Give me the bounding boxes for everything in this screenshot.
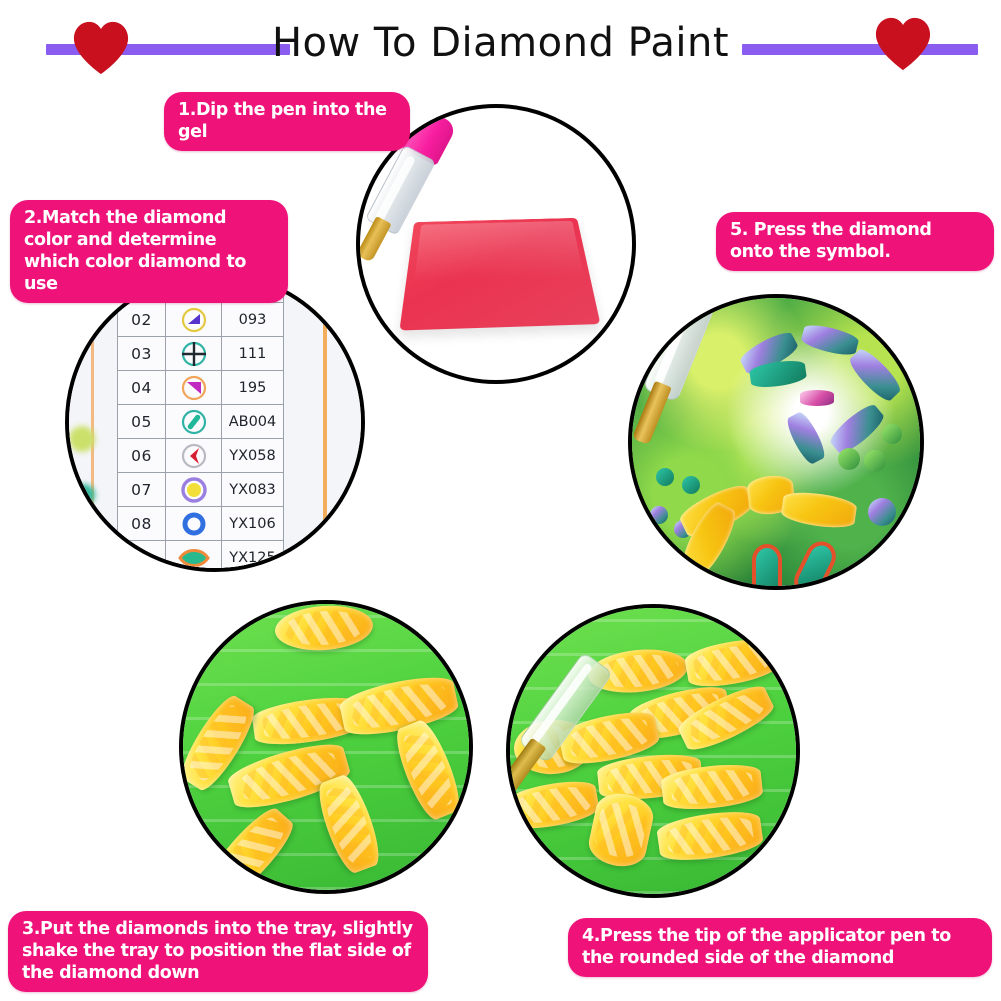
magenta-triangle-symbol-icon xyxy=(166,371,222,405)
canvas-gem xyxy=(650,506,668,524)
canvas-gem xyxy=(864,450,886,472)
row-number: 04 xyxy=(118,371,166,405)
page-title: How To Diamond Paint xyxy=(0,19,1001,67)
row-number: 08 xyxy=(118,507,166,541)
chart-blob xyxy=(65,520,83,540)
open-ring-symbol-icon xyxy=(166,507,222,541)
canvas-gem xyxy=(826,400,887,457)
table-row: 07 YX083 xyxy=(118,473,284,507)
table-row: 03 111 xyxy=(118,337,284,371)
plus-cross-symbol-icon xyxy=(166,337,222,371)
canvas-gem xyxy=(838,448,860,470)
row-code: YX125 xyxy=(222,541,284,573)
leaf-marquise-symbol-icon xyxy=(166,541,222,573)
row-number: 09 xyxy=(118,541,166,573)
color-code-table: 01 020 xyxy=(117,272,284,572)
diamond-tray xyxy=(183,604,469,890)
row-number: 05 xyxy=(118,405,166,439)
step-1-photo-inner xyxy=(360,108,632,380)
row-code: AB004 xyxy=(222,405,284,439)
canvas-gem xyxy=(682,476,700,494)
row-code: YX083 xyxy=(222,473,284,507)
canvas-gem xyxy=(783,409,829,466)
left-chevron-symbol-icon xyxy=(166,439,222,473)
canvas-gem-yellow xyxy=(780,489,858,531)
row-code: YX106 xyxy=(222,507,284,541)
mandala-canvas xyxy=(632,298,920,586)
filled-dot-symbol-icon xyxy=(166,473,222,507)
infographic-page: How To Diamond Paint 1.Dip the pen into … xyxy=(0,0,1001,1001)
canvas-gem xyxy=(882,424,902,444)
canvas-gem xyxy=(868,498,896,526)
tray-diamond xyxy=(683,635,779,692)
row-code: 111 xyxy=(222,337,284,371)
canvas-gem xyxy=(800,390,834,406)
step-3-photo xyxy=(179,600,473,894)
pen-tip xyxy=(356,216,392,263)
row-number: 02 xyxy=(118,303,166,337)
step-2-label: 2.Match the diamond color and determine … xyxy=(10,200,288,303)
row-code: 195 xyxy=(222,371,284,405)
row-number: 07 xyxy=(118,473,166,507)
canvas-gem xyxy=(800,322,860,359)
tray-diamond xyxy=(655,807,764,865)
canvas-gem xyxy=(846,345,905,405)
color-chart-sheet: 01 020 xyxy=(69,276,361,568)
tray-diamond xyxy=(312,771,386,876)
table-row: 06 YX058 xyxy=(118,439,284,473)
chart-blob xyxy=(69,426,95,452)
step-4-label: 4.Press the tip of the applicator pen to… xyxy=(568,918,992,977)
canvas-gem xyxy=(752,544,782,590)
step-2-photo: 01 020 xyxy=(65,272,365,572)
table-row: 05 AB004 xyxy=(118,405,284,439)
tray-diamond xyxy=(202,802,300,894)
canvas-gem xyxy=(789,536,841,590)
row-number: 03 xyxy=(118,337,166,371)
pink-gel-pad xyxy=(399,218,600,331)
step-5-label: 5. Press the diamond onto the symbol. xyxy=(716,212,994,271)
step-5-photo xyxy=(628,294,924,590)
row-code: 093 xyxy=(222,303,284,337)
applicator-pen xyxy=(628,294,724,459)
pen-tip xyxy=(632,381,672,445)
right-triangle-symbol-icon xyxy=(166,303,222,337)
step-3-label: 3.Put the diamonds into the tray, slight… xyxy=(8,911,428,992)
row-code: YX058 xyxy=(222,439,284,473)
tray-diamond xyxy=(274,603,375,654)
diagonal-bar-symbol-icon xyxy=(166,405,222,439)
table-row: 02 093 xyxy=(118,303,284,337)
table-row: 08 YX106 xyxy=(118,507,284,541)
tray-diamond xyxy=(389,716,467,823)
row-number: 06 xyxy=(118,439,166,473)
table-row: 04 195 xyxy=(118,371,284,405)
chart-blob xyxy=(73,484,95,506)
step-1-label: 1.Dip the pen into the gel xyxy=(164,92,410,151)
table-row: 09 YX125 xyxy=(118,541,284,573)
diamond-tray xyxy=(510,608,796,894)
canvas-gem xyxy=(656,468,674,486)
step-4-photo xyxy=(506,604,800,898)
